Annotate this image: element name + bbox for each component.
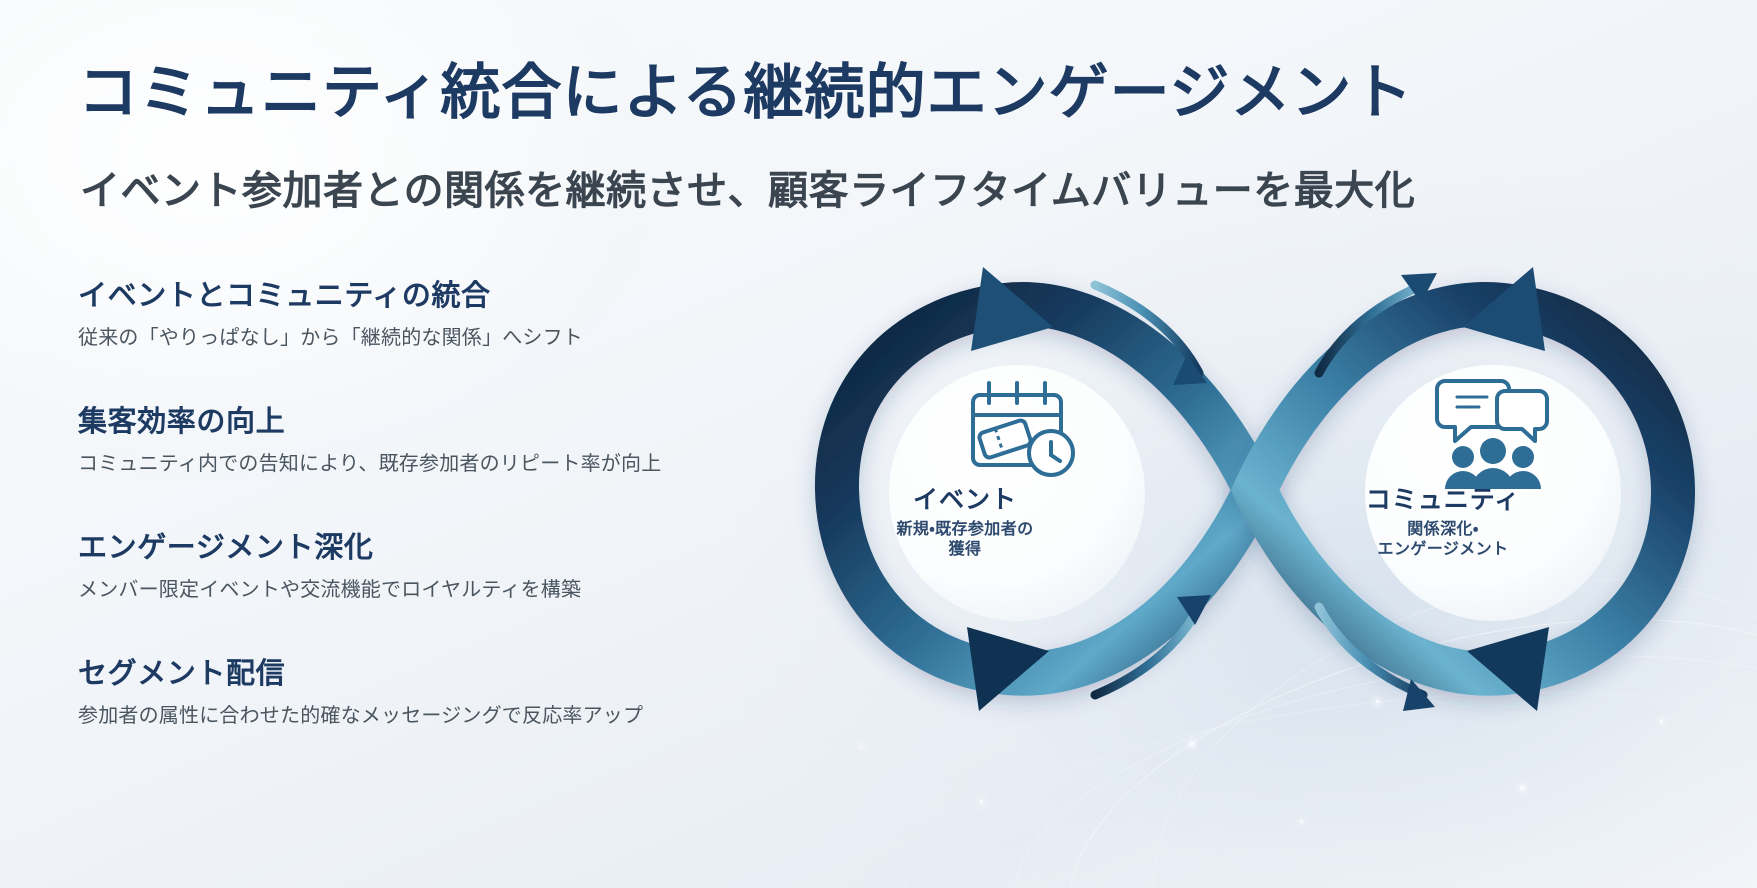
- benefit-description: 参加者の属性に合わせた的確なメッセージングで反応率アップ: [78, 699, 868, 728]
- benefit-description: コミュニティ内での告知により、既存参加者のリピート率が向上: [78, 447, 868, 476]
- left-node-title: イベント: [845, 480, 1085, 516]
- left-node-label: イベント 新規・既存参加者の 獲得: [845, 480, 1085, 560]
- right-node-subtitle: 関係深化・ エンゲージメント: [1323, 520, 1563, 560]
- benefit-description: メンバー限定イベントや交流機能でロイヤルティを構築: [78, 573, 868, 602]
- page-subtitle: イベント参加者との関係を継続させ、顧客ライフタイムバリューを最大化: [80, 158, 1415, 216]
- benefit-heading: イベントとコミュニティの統合: [78, 272, 868, 314]
- benefit-list: イベントとコミュニティの統合 従来の「やりっぱなし」から「継続的な関係」へシフト…: [78, 272, 868, 728]
- right-node-sub-line2: エンゲージメント: [1323, 540, 1563, 560]
- list-item: イベントとコミュニティの統合 従来の「やりっぱなし」から「継続的な関係」へシフト: [78, 272, 868, 350]
- right-node-sub-line1: 関係深化・: [1323, 520, 1563, 540]
- benefit-description: 従来の「やりっぱなし」から「継続的な関係」へシフト: [78, 321, 868, 350]
- left-node-subtitle: 新規・既存参加者の 獲得: [845, 520, 1085, 560]
- infinity-loop-diagram: イベント 新規・既存参加者の 獲得 コミュニティ 関係深化・ エンゲージメント: [795, 255, 1715, 725]
- benefit-heading: エンゲージメント深化: [78, 524, 868, 566]
- left-node-sub-line1: 新規・既存参加者の: [845, 520, 1085, 540]
- benefit-heading: 集客効率の向上: [78, 398, 868, 440]
- list-item: セグメント配信 参加者の属性に合わせた的確なメッセージングで反応率アップ: [78, 650, 868, 728]
- right-node-title: コミュニティ: [1323, 480, 1563, 516]
- page-title: コミュニティ統合による継続的エンゲージメント: [78, 44, 1413, 131]
- list-item: 集客効率の向上 コミュニティ内での告知により、既存参加者のリピート率が向上: [78, 398, 868, 476]
- list-item: エンゲージメント深化 メンバー限定イベントや交流機能でロイヤルティを構築: [78, 524, 868, 602]
- slide-canvas: コミュニティ統合による継続的エンゲージメント イベント参加者との関係を継続させ、…: [0, 0, 1757, 888]
- left-node-sub-line2: 獲得: [845, 540, 1085, 560]
- benefit-heading: セグメント配信: [78, 650, 868, 692]
- right-node-label: コミュニティ 関係深化・ エンゲージメント: [1323, 480, 1563, 560]
